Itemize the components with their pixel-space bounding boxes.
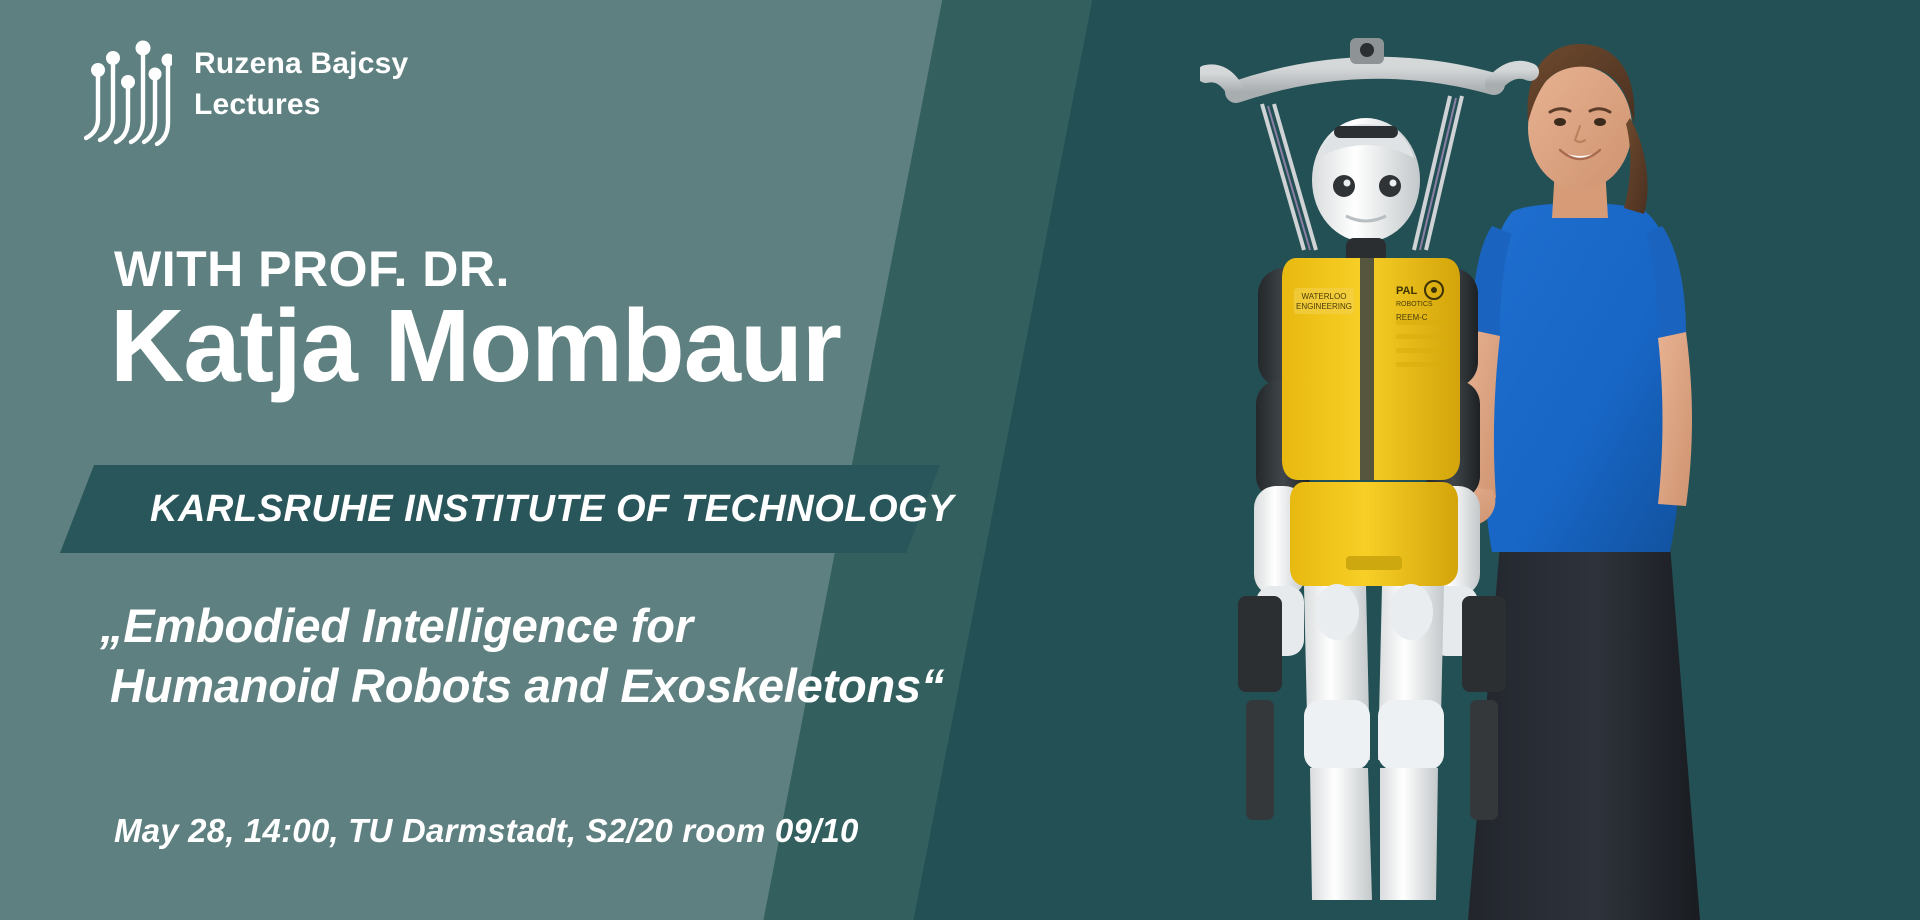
series-title-line2: Lectures [194, 85, 408, 126]
series-title: Ruzena Bajcsy Lectures [194, 34, 408, 125]
speaker-name: Katja Mombaur [110, 288, 841, 403]
svg-text:REEM-C: REEM-C [1396, 313, 1428, 322]
photo-illustration: WATERLOO ENGINEERING PAL ROBOTICS REEM-C [1200, 0, 1920, 920]
talk-title-line2: Humanoid Robots and Exoskeletons“ [110, 656, 944, 716]
affiliation-label: KARLSRUHE INSTITUTE OF TECHNOLOGY [150, 465, 954, 553]
svg-text:ROBOTICS: ROBOTICS [1396, 301, 1433, 308]
talk-title-line1: „Embodied Intelligence for [100, 596, 944, 656]
svg-text:ENGINEERING: ENGINEERING [1296, 302, 1352, 311]
svg-text:PAL: PAL [1396, 285, 1417, 297]
speaker-robot-photo: WATERLOO ENGINEERING PAL ROBOTICS REEM-C [1020, 0, 1920, 920]
lecture-poster: WATERLOO ENGINEERING PAL ROBOTICS REEM-C [0, 0, 1920, 920]
series-logo-block: Ruzena Bajcsy Lectures [84, 34, 408, 146]
talk-title: „Embodied Intelligence for Humanoid Robo… [100, 596, 944, 716]
affiliation-banner: KARLSRUHE INSTITUTE OF TECHNOLOGY [60, 465, 940, 553]
robot-badge-waterloo: WATERLOO ENGINEERING [1294, 288, 1354, 314]
circuit-traces-logo-icon [84, 34, 172, 146]
series-title-line1: Ruzena Bajcsy [194, 44, 408, 85]
svg-text:WATERLOO: WATERLOO [1302, 292, 1347, 301]
humanoid-robot: WATERLOO ENGINEERING PAL ROBOTICS REEM-C [1238, 118, 1506, 900]
event-details: May 28, 14:00, TU Darmstadt, S2/20 room … [114, 812, 859, 850]
